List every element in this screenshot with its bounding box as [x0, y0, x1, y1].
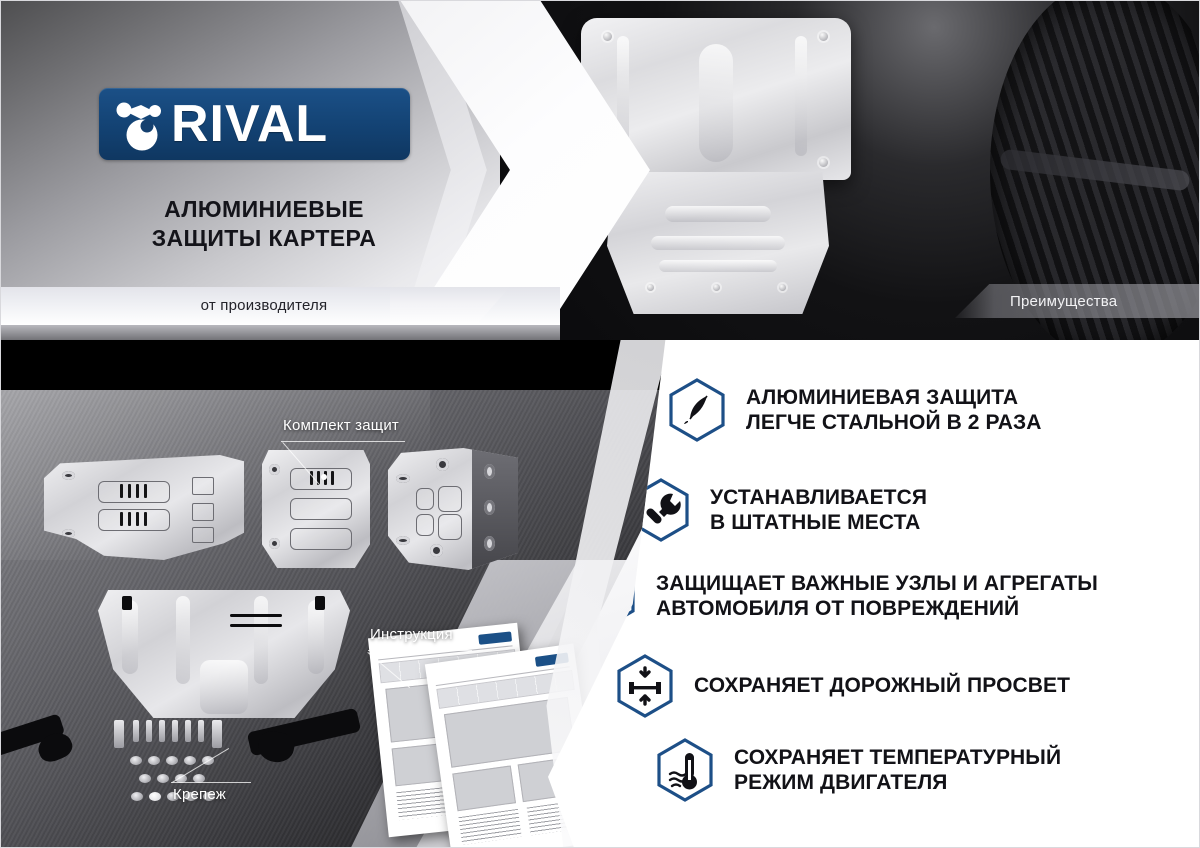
feather-icon — [668, 378, 726, 442]
benefit-item-2: УСТАНАВЛИВАЕТСЯ В ШТАТНЫЕ МЕСТА — [632, 478, 927, 542]
thermometer-icon — [656, 738, 714, 802]
benefit-item-5: СОХРАНЯЕТ ТЕМПЕРАТУРНЫЙ РЕЖИМ ДВИГАТЕЛЯ — [656, 738, 1061, 802]
benefit-text-5: СОХРАНЯЕТ ТЕМПЕРАТУРНЫЙ РЕЖИМ ДВИГАТЕЛЯ — [734, 745, 1061, 795]
hero-caption-text: Преимущества — [1010, 293, 1117, 310]
benefit-text-3: ЗАЩИЩАЕТ ВАЖНЫЕ УЗЛЫ И АГРЕГАТЫ АВТОМОБИ… — [656, 571, 1098, 621]
page-title-line2: ЗАЩИТЫ КАРТЕРА — [99, 224, 429, 253]
callout-set-rule — [281, 441, 405, 442]
callout-set-label: Комплект защит — [283, 417, 399, 434]
plate-main-large — [98, 590, 350, 718]
benefit-item-1: АЛЮМИНИЕВАЯ ЗАЩИТА ЛЕГЧЕ СТАЛЬНОЙ В 2 РА… — [668, 378, 1042, 442]
callout-fasteners-label: Крепеж — [173, 786, 226, 803]
callout-manual-label: Инструкция — [370, 626, 453, 643]
callout-fasteners-rule — [171, 782, 251, 783]
benefit-item-3: ЗАЩИЩАЕТ ВАЖНЫЕ УЗЛЫ И АГРЕГАТЫ АВТОМОБИ… — [578, 564, 1098, 628]
molecule-icon — [111, 95, 173, 153]
benefit-text-2: УСТАНАВЛИВАЕТСЯ В ШТАТНЫЕ МЕСТА — [710, 485, 927, 535]
callout-manual-rule — [368, 650, 472, 651]
plate-right — [388, 448, 518, 570]
callout-set-dot — [321, 474, 327, 480]
page-title: АЛЮМИНИЕВЫЕ ЗАЩИТЫ КАРТЕРА — [99, 195, 429, 254]
page-title-line1: АЛЮМИНИЕВЫЕ — [99, 195, 429, 224]
plate-centre — [262, 450, 370, 568]
skid-plate-lower — [607, 172, 829, 314]
hero-caption-bar: Преимущества — [955, 284, 1200, 318]
brand-wordmark: RIVAL — [171, 98, 328, 150]
black-divider — [0, 340, 700, 390]
band-highlight — [0, 325, 560, 341]
brand-logo-plate: RIVAL — [99, 88, 410, 160]
plate-wide — [44, 455, 244, 560]
promo-banner: Преимущества RIVAL АЛЮМИНИЕВЫЕ ЗАЩИТЫ КА… — [0, 0, 1200, 848]
benefit-text-1: АЛЮМИНИЕВАЯ ЗАЩИТА ЛЕГЧЕ СТАЛЬНОЙ В 2 РА… — [746, 385, 1042, 435]
ground-clearance-icon — [616, 654, 674, 718]
page-subtitle: от производителя — [99, 297, 429, 314]
benefit-item-4: СОХРАНЯЕТ ДОРОЖНЫЙ ПРОСВЕТ — [616, 654, 1070, 718]
benefit-text-4: СОХРАНЯЕТ ДОРОЖНЫЙ ПРОСВЕТ — [694, 673, 1070, 698]
